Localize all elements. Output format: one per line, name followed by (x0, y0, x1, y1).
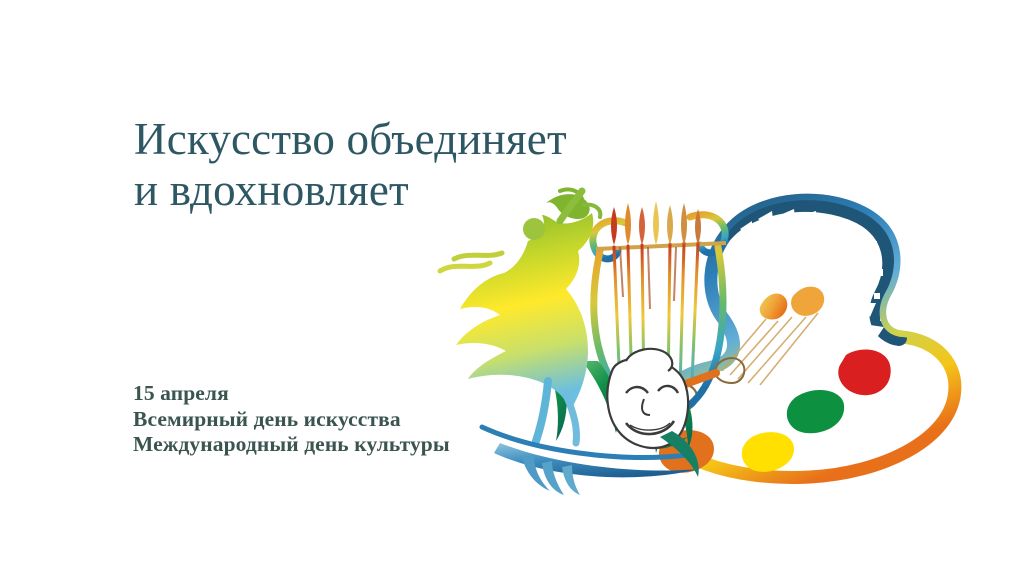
ballerina-silhouette (440, 189, 600, 443)
event-name-intl: Международный день культуры (133, 432, 450, 458)
event-name-world: Всемирный день искусства (133, 407, 450, 433)
poster-canvas: Искусство объединяет и вдохновляет 15 ап… (0, 0, 1024, 576)
artwork-illustration (430, 185, 1000, 495)
paint-blob-red (838, 350, 890, 396)
event-date: 15 апреля (133, 381, 450, 407)
event-details: 15 апреля Всемирный день искусства Между… (133, 381, 450, 458)
paint-blob-green (787, 390, 844, 433)
paint-blob-yellow (742, 432, 794, 472)
theatre-mask (607, 349, 688, 448)
